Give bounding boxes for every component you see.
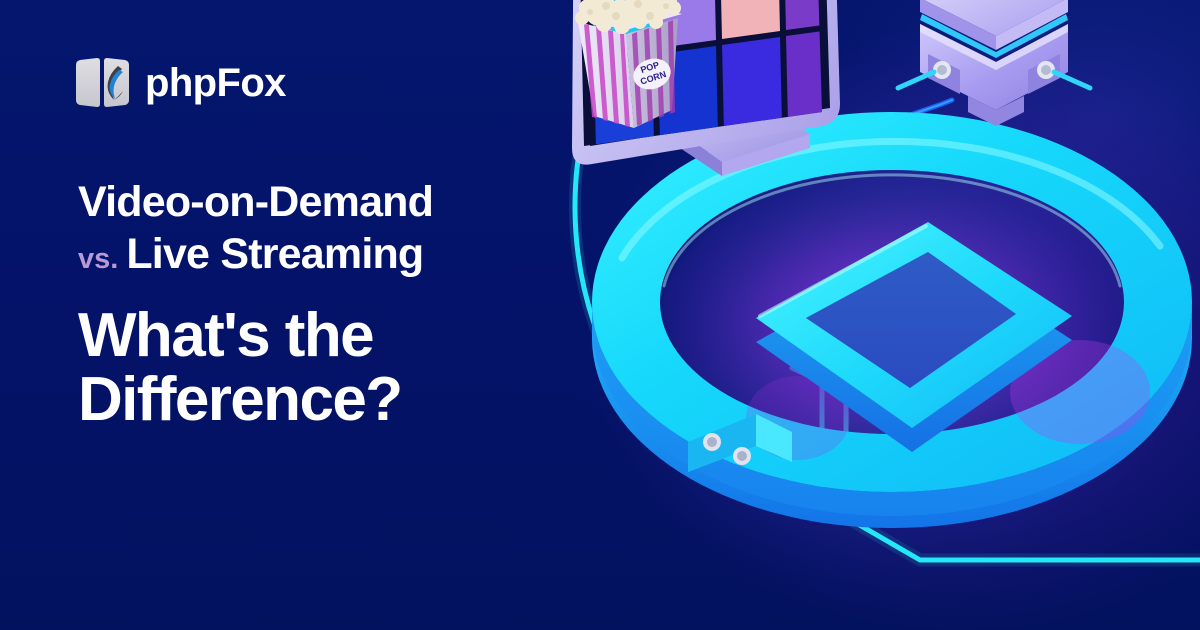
headline-line-2: vs.Live Streaming xyxy=(78,230,598,278)
phpfox-logo-mark-icon xyxy=(74,57,132,109)
headline-vs: vs. xyxy=(78,243,118,275)
headline-line-1: Video-on-Demand xyxy=(78,178,598,226)
illustration: POP CORN xyxy=(560,0,1200,630)
brand-name: phpFox xyxy=(145,63,286,103)
brand-logo[interactable]: phpFox xyxy=(74,57,286,109)
headline-block: Video-on-Demand vs.Live Streaming What's… xyxy=(78,178,598,432)
headline-line-2-text: Live Streaming xyxy=(126,230,423,278)
promo-banner: POP CORN xyxy=(0,0,1200,630)
page-title: What's the Difference? xyxy=(78,304,598,432)
